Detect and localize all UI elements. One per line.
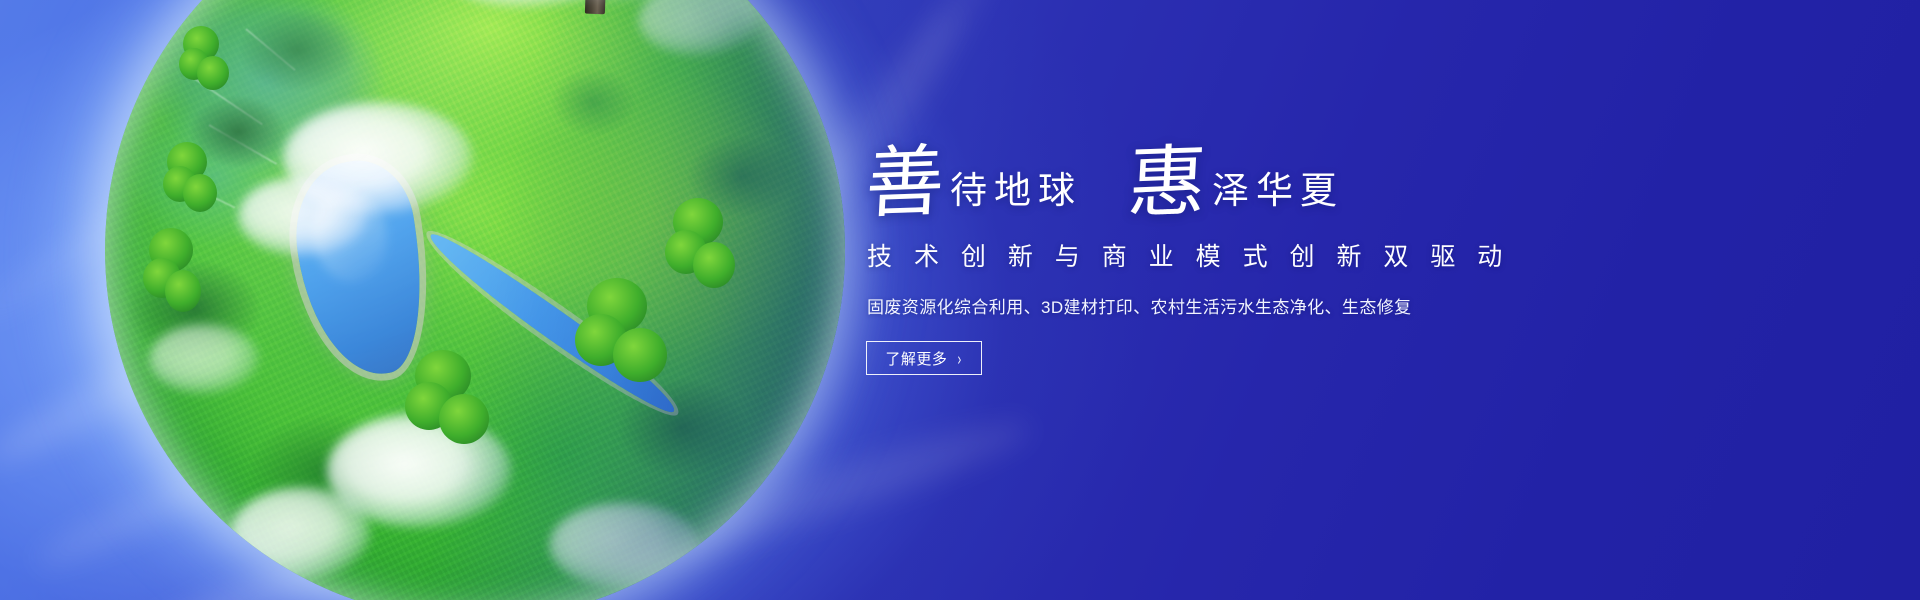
river bbox=[422, 223, 682, 424]
edge-tree bbox=[405, 350, 493, 454]
edge-tree bbox=[575, 278, 671, 394]
headline-lead-char-2: 惠 bbox=[1126, 147, 1208, 221]
mountain-ridge-layer bbox=[105, 0, 845, 600]
edge-tree bbox=[665, 198, 739, 298]
hero-banner: 善 待地球 惠 泽华夏 技 术 创 新 与 商 业 模 式 创 新 双 驱 动 … bbox=[0, 0, 1920, 600]
cloud bbox=[283, 102, 473, 214]
subtitle: 技 术 创 新 与 商 业 模 式 创 新 双 驱 动 bbox=[867, 237, 1662, 273]
large-tree bbox=[435, 0, 765, 94]
headline: 善 待地球 惠 泽华夏 bbox=[866, 134, 1662, 220]
tree-trunk bbox=[585, 0, 609, 14]
learn-more-button[interactable]: 了解更多 › bbox=[866, 341, 982, 375]
headline-lead-char-1: 善 bbox=[864, 147, 946, 221]
forest-patches-layer bbox=[105, 0, 845, 600]
river-branch bbox=[525, 343, 682, 523]
lake bbox=[285, 153, 437, 384]
sky-wisp bbox=[0, 96, 296, 333]
banner-copy: 善 待地球 惠 泽华夏 技 术 创 新 与 商 业 模 式 创 新 双 驱 动 … bbox=[862, 134, 1662, 375]
edge-tree bbox=[163, 142, 221, 222]
edge-tree bbox=[143, 228, 205, 324]
globe-atmosphere-rim bbox=[105, 0, 845, 600]
hot-air-balloon bbox=[337, 0, 393, 8]
cloud bbox=[638, 0, 758, 56]
headline-rest-2: 泽华夏 bbox=[1212, 160, 1344, 220]
atmosphere-halo bbox=[35, 0, 915, 600]
sky-wisp bbox=[0, 225, 404, 482]
lake-reflection bbox=[306, 183, 394, 288]
cloud bbox=[231, 487, 371, 579]
description-text: 固废资源化综合利用、3D建材打印、农村生活污水生态净化、生态修复 bbox=[867, 293, 1662, 318]
land-layer bbox=[105, 0, 845, 600]
sky-wisp bbox=[28, 318, 513, 582]
headline-rest-1: 待地球 bbox=[950, 160, 1082, 220]
sky-wisp bbox=[103, 409, 677, 600]
cloud bbox=[149, 324, 259, 394]
terrain-texture-layer bbox=[105, 0, 845, 600]
globe-shading bbox=[105, 0, 845, 600]
cloud bbox=[238, 176, 368, 256]
cloud bbox=[327, 413, 512, 528]
sky-wisp bbox=[623, 406, 1036, 578]
learn-more-label: 了解更多 bbox=[885, 348, 947, 369]
edge-tree bbox=[179, 26, 231, 100]
globe-sphere bbox=[105, 0, 845, 600]
chevron-right-icon: › bbox=[958, 349, 962, 367]
cloud bbox=[438, 0, 613, 8]
earth-globe-illustration bbox=[105, 0, 845, 600]
cloud bbox=[549, 502, 699, 588]
